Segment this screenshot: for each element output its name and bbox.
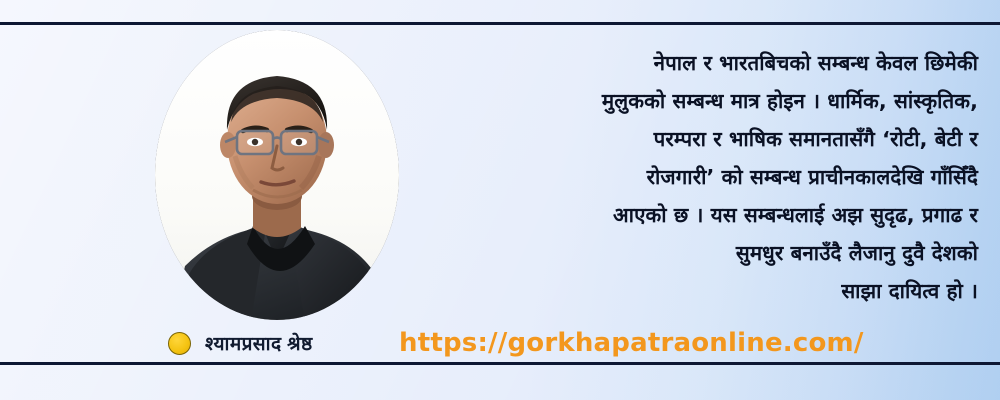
bottom-divider-rule: [0, 362, 1000, 365]
quote-line: परम्परा र भाषिक समानतासँगै ‘रोटी, बेटी र: [420, 120, 978, 158]
quote-line: सुमधुर बनाउँदै लैजानु दुवै देशको: [420, 234, 978, 272]
author-name: श्यामप्रसाद श्रेष्ठ: [205, 330, 313, 356]
quote-line: रोजगारी’ को सम्बन्ध प्राचीनकालदेखि गाँसि…: [420, 158, 978, 196]
byline: श्यामप्रसाद श्रेष्ठ: [168, 330, 313, 356]
portrait-photo: [155, 30, 399, 320]
quote-text-block: नेपाल र भारतबिचको सम्बन्ध केवल छिमेकी मु…: [420, 44, 978, 310]
gold-bullet-icon: [168, 332, 191, 355]
quote-line: मुलुकको सम्बन्ध मात्र होइन । धार्मिक, सा…: [420, 82, 978, 120]
site-url-link[interactable]: https://gorkhapatraonline.com/: [399, 328, 864, 358]
top-divider-rule: [0, 22, 1000, 25]
portrait-illustration: [155, 30, 399, 320]
quote-line: आएको छ । यस सम्बन्धलाई अझ सुदृढ, प्रगाढ …: [420, 196, 978, 234]
quote-banner: श्यामप्रसाद श्रेष्ठ https://gorkhapatrao…: [0, 0, 1000, 400]
quote-line: साझा दायित्व हो ।: [420, 272, 978, 310]
portrait-circular-frame: [155, 30, 399, 320]
quote-line: नेपाल र भारतबिचको सम्बन्ध केवल छिमेकी: [420, 44, 978, 82]
